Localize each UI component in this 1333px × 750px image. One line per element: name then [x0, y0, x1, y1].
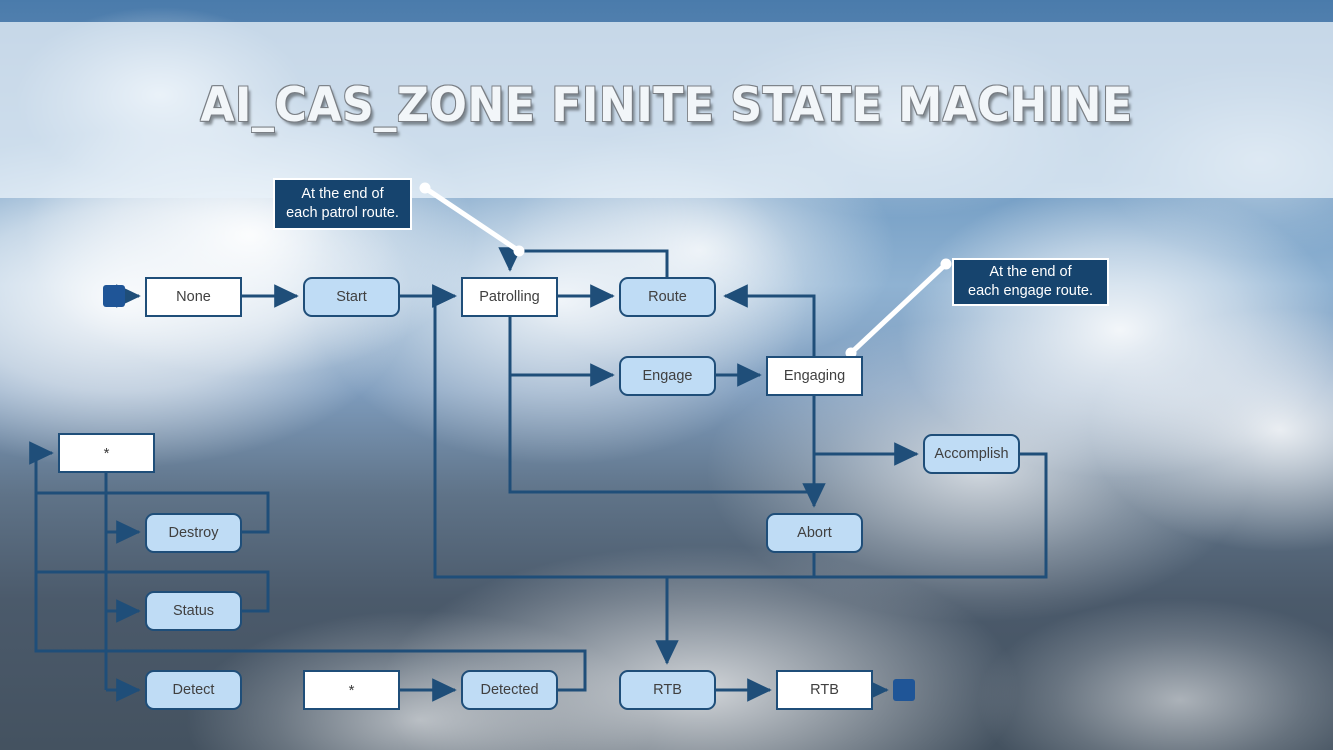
state-node-start[interactable]: Start — [303, 277, 400, 317]
state-node-label: * — [104, 446, 110, 461]
state-node-label: Route — [648, 290, 687, 305]
start-state-marker — [103, 285, 125, 307]
state-node-route[interactable]: Route — [619, 277, 716, 317]
state-node-label: Patrolling — [479, 290, 539, 305]
callout-patrol-note: At the end of each patrol route. — [273, 178, 412, 230]
callout-line-1: At the end of — [989, 263, 1071, 282]
state-node-none[interactable]: None — [145, 277, 242, 317]
state-node-label: Destroy — [169, 526, 219, 541]
state-node-label: None — [176, 290, 211, 305]
state-node-label: Accomplish — [934, 447, 1008, 462]
state-node-rtb-white[interactable]: RTB — [776, 670, 873, 710]
state-node-label: Detect — [173, 683, 215, 698]
state-node-label: Status — [173, 604, 214, 619]
state-node-label: * — [349, 683, 355, 698]
end-state-marker — [893, 679, 915, 701]
state-node-label: Start — [336, 290, 367, 305]
state-node-label: Engage — [643, 369, 693, 384]
state-node-status[interactable]: Status — [145, 591, 242, 631]
state-node-abort[interactable]: Abort — [766, 513, 863, 553]
callout-leader-lines — [420, 183, 952, 359]
state-node-star-top[interactable]: * — [58, 433, 155, 473]
state-node-label: RTB — [653, 683, 682, 698]
state-node-label: Abort — [797, 526, 832, 541]
patrol-note-leader — [425, 188, 519, 251]
slide-canvas: AI_CAS_ZONE FINITE STATE MACHINE — [0, 0, 1333, 750]
state-node-star-bottom[interactable]: * — [303, 670, 400, 710]
callout-engage-note: At the end of each engage route. — [952, 258, 1109, 306]
engage-note-leader — [851, 264, 946, 353]
state-node-rtb-blue[interactable]: RTB — [619, 670, 716, 710]
state-node-patrolling[interactable]: Patrolling — [461, 277, 558, 317]
state-node-label: RTB — [810, 683, 839, 698]
callout-line-2: each patrol route. — [286, 204, 399, 223]
edge-engaging-route — [725, 296, 814, 356]
state-node-detect[interactable]: Detect — [145, 670, 242, 710]
patrol-note-leader-start-dot — [420, 183, 431, 194]
state-node-label: Detected — [480, 683, 538, 698]
state-node-engaging[interactable]: Engaging — [766, 356, 863, 396]
state-node-detected[interactable]: Detected — [461, 670, 558, 710]
edge-route-patrolling — [510, 251, 667, 277]
engage-note-leader-start-dot — [941, 259, 952, 270]
edge-engaging-accomplish — [814, 396, 917, 454]
patrol-note-leader-end-dot — [514, 246, 525, 257]
edge-patrolling-engage — [510, 317, 613, 375]
state-node-accomplish[interactable]: Accomplish — [923, 434, 1020, 474]
callout-line-1: At the end of — [301, 185, 383, 204]
state-node-label: Engaging — [784, 369, 845, 384]
state-node-engage[interactable]: Engage — [619, 356, 716, 396]
callout-line-2: each engage route. — [968, 282, 1093, 301]
state-node-destroy[interactable]: Destroy — [145, 513, 242, 553]
